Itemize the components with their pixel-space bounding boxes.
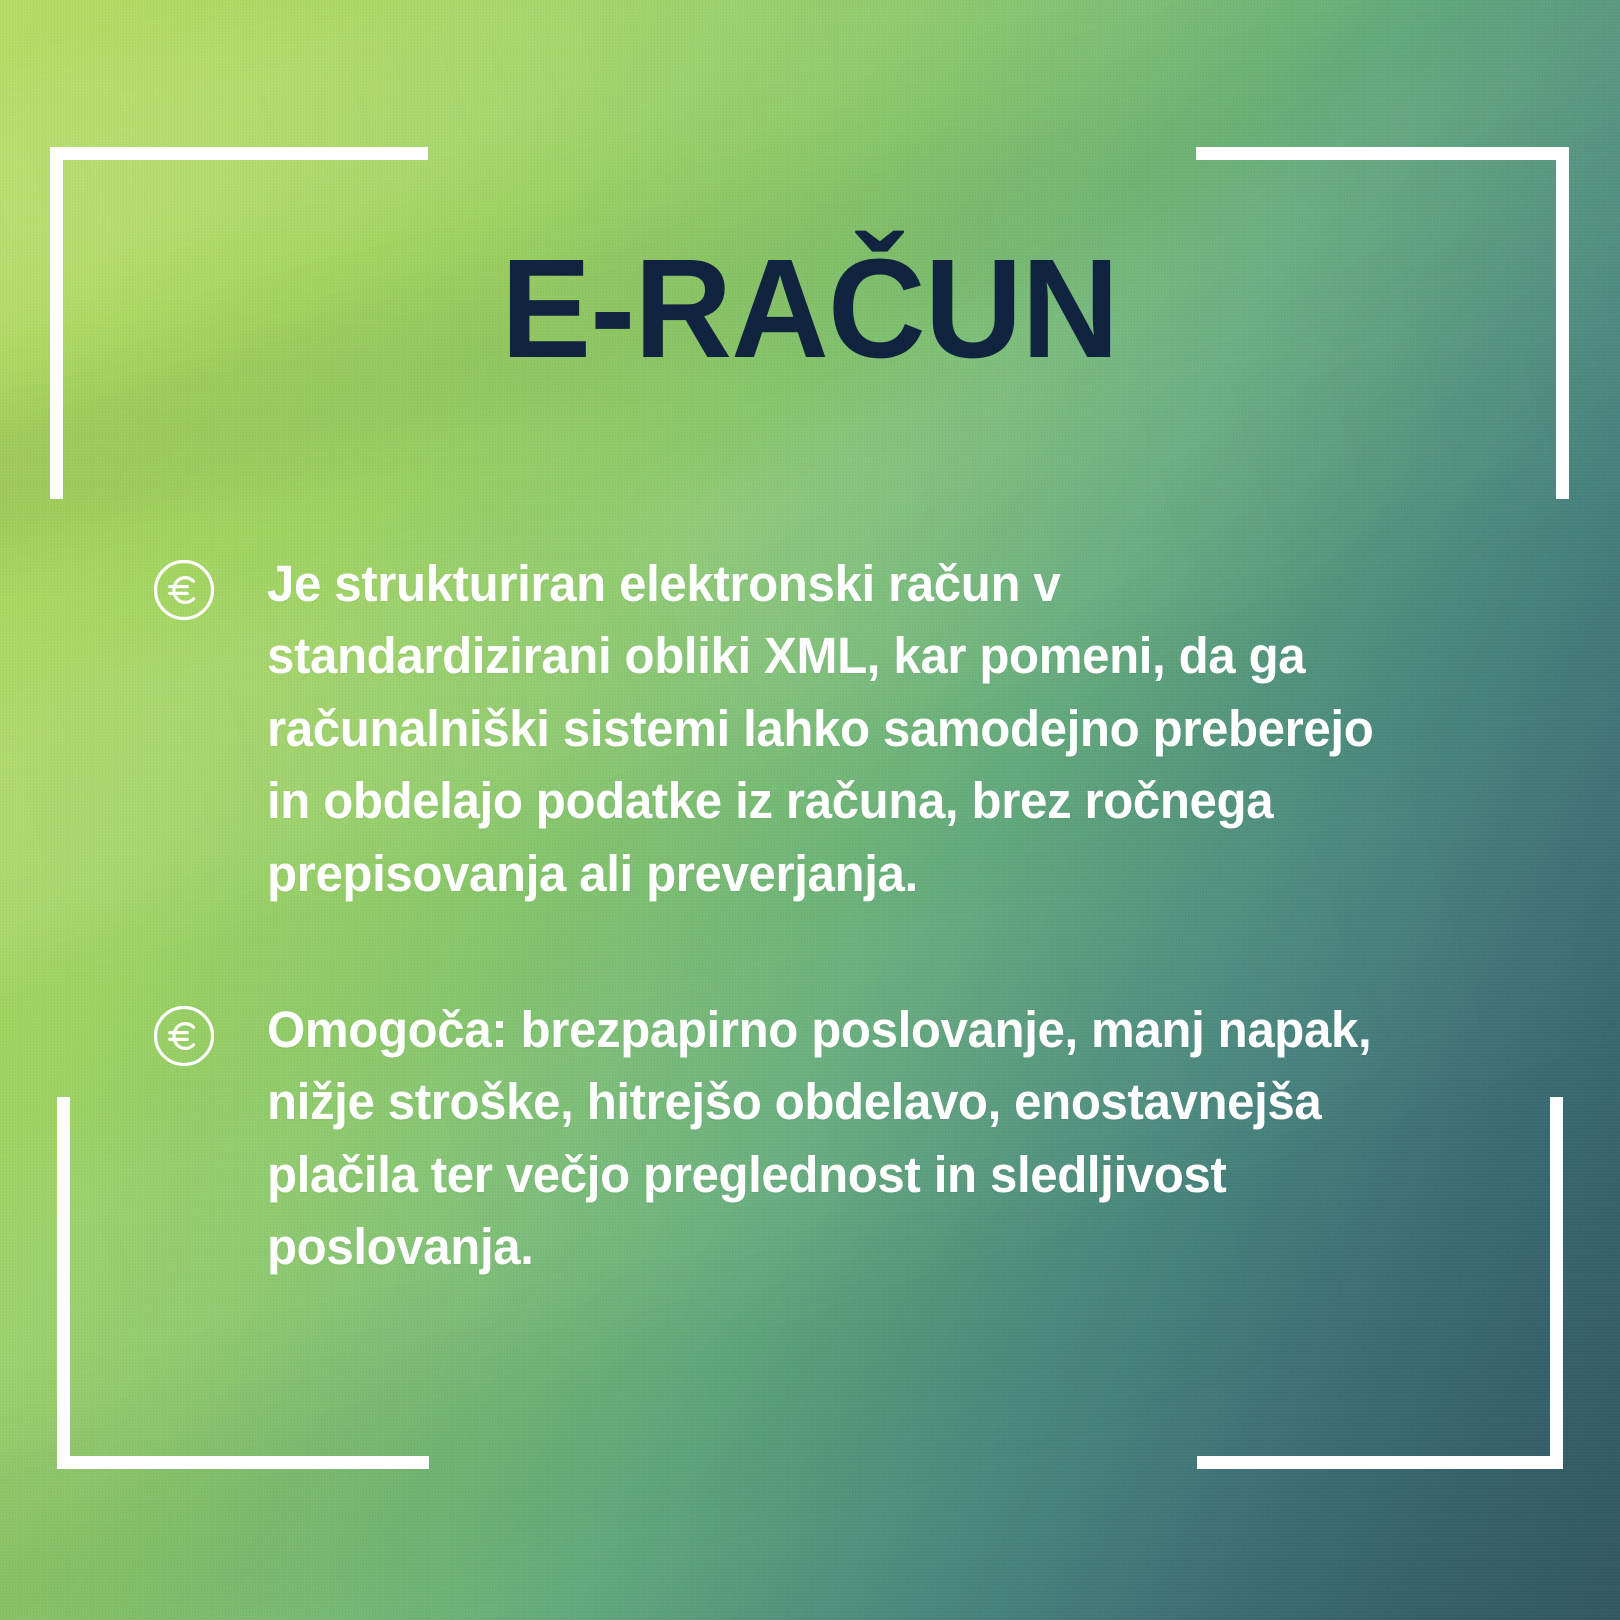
- top-right-bracket-horizontal: [1196, 147, 1569, 160]
- list-item: Je strukturiran elektronski račun v stan…: [152, 548, 1442, 910]
- bullet-icon-cell: [152, 994, 267, 1068]
- bottom-left-bracket-horizontal: [57, 1456, 429, 1469]
- bullet-text: Omogoča: brezpapirno poslovanje, manj na…: [267, 994, 1401, 1284]
- bullet-list: Je strukturiran elektronski račun v stan…: [152, 548, 1442, 1284]
- poster-canvas: E-RAČUN Je strukturiran elektronski raču…: [0, 0, 1620, 1620]
- list-item: Omogoča: brezpapirno poslovanje, manj na…: [152, 994, 1442, 1284]
- euro-circle-icon: [152, 558, 216, 622]
- euro-circle-icon: [152, 1004, 216, 1068]
- bottom-right-bracket-vertical: [1550, 1097, 1563, 1469]
- bottom-right-bracket-horizontal: [1197, 1456, 1563, 1469]
- bullet-text: Je strukturiran elektronski račun v stan…: [267, 548, 1401, 910]
- bullet-icon-cell: [152, 548, 267, 622]
- top-left-bracket-horizontal: [50, 147, 428, 160]
- title-container: E-RAČUN: [0, 238, 1620, 379]
- page-title: E-RAČUN: [501, 238, 1118, 379]
- bottom-left-bracket-vertical: [57, 1097, 70, 1469]
